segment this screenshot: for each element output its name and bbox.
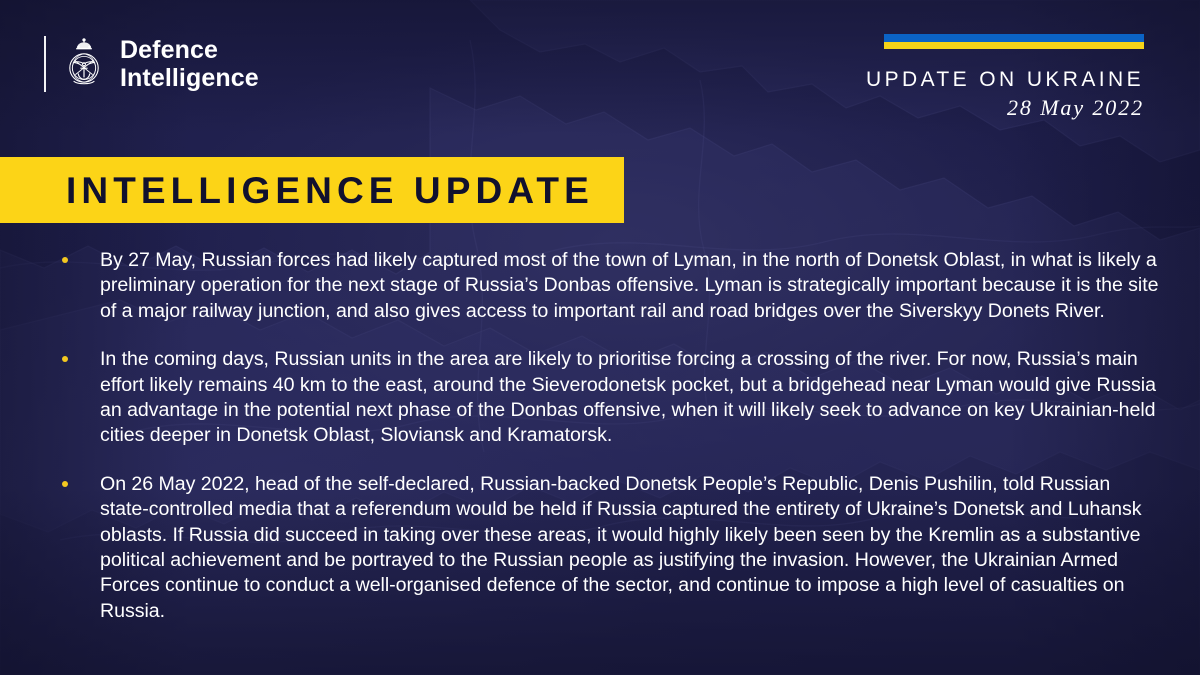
update-header: UPDATE ON UKRAINE 28 May 2022 (866, 34, 1144, 121)
vertical-rule-icon (44, 36, 46, 92)
bullet-list: By 27 May, Russian forces had likely cap… (62, 248, 1164, 647)
list-item: In the coming days, Russian units in the… (62, 347, 1164, 449)
intelligence-update-banner: INTELLIGENCE UPDATE (0, 157, 624, 223)
list-item: By 27 May, Russian forces had likely cap… (62, 248, 1164, 324)
bullet-dot-icon (62, 472, 100, 624)
bullet-dot-icon (62, 248, 100, 324)
ukraine-flag-bar-icon (884, 34, 1144, 49)
flag-stripe-blue (884, 34, 1144, 42)
logo-text-line-2: Intelligence (120, 64, 259, 92)
defence-intelligence-logo: Defence Intelligence (44, 36, 259, 92)
logo-text-line-1: Defence (120, 36, 259, 64)
list-item: On 26 May 2022, head of the self-declare… (62, 472, 1164, 624)
intelligence-update-graphic: Defence Intelligence UPDATE ON UKRAINE 2… (0, 0, 1200, 675)
uk-defence-intelligence-crest-icon (61, 36, 107, 92)
bullet-dot-icon (62, 347, 100, 449)
bullet-text: In the coming days, Russian units in the… (100, 347, 1164, 449)
bullet-text: By 27 May, Russian forces had likely cap… (100, 248, 1164, 324)
flag-stripe-yellow (884, 42, 1144, 50)
bullet-text: On 26 May 2022, head of the self-declare… (100, 472, 1164, 624)
update-title: UPDATE ON UKRAINE (866, 68, 1144, 92)
update-date: 28 May 2022 (866, 95, 1144, 121)
page-title: INTELLIGENCE UPDATE (66, 172, 594, 209)
